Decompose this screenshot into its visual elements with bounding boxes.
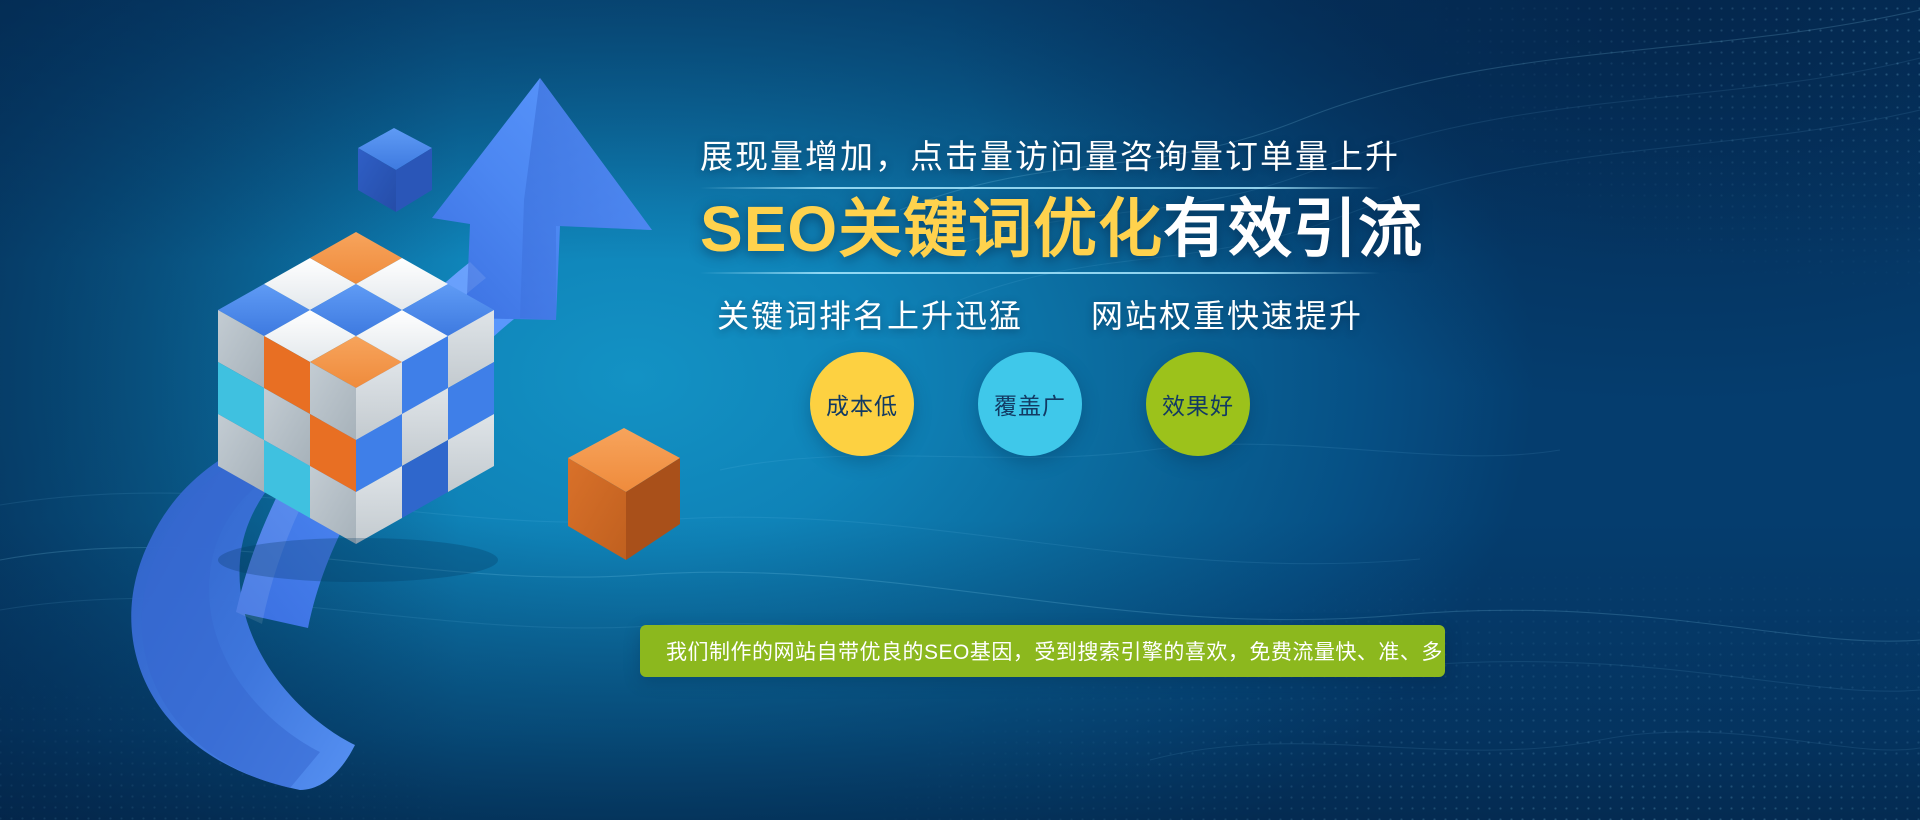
floating-orange-cube [568,428,680,560]
headline-rest: 有效引流 [1163,193,1423,265]
headline-highlight: SEO关键词优化 [700,193,1163,265]
divider-top [700,187,1380,189]
kicker-text: 展现量增加，点击量访问量咨询量订单量上升 [700,140,1380,173]
badge-cost[interactable]: 成本低 [810,352,914,456]
tagline-bar: 我们制作的网站自带优良的SEO基因，受到搜索引擎的喜欢，免费流量快、准、多 [640,625,1445,677]
subtitle-text: 关键词排名上升迅猛 网站权重快速提升 [700,300,1380,332]
divider-bottom [700,272,1380,274]
page-title: SEO关键词优化有效引流 [700,195,1380,264]
tagline-text: 我们制作的网站自带优良的SEO基因，受到搜索引擎的喜欢，免费流量快、准、多 [640,636,1443,666]
badge-coverage-label: 覆盖广 [994,387,1066,421]
floating-blue-cube [358,128,432,212]
headline-block: 展现量增加，点击量访问量咨询量订单量上升 SEO关键词优化有效引流 关键词排名上… [700,140,1880,332]
seo-promo-banner: 展现量增加，点击量访问量咨询量订单量上升 SEO关键词优化有效引流 关键词排名上… [0,0,1920,820]
badge-effect[interactable]: 效果好 [1146,352,1250,456]
badge-coverage[interactable]: 覆盖广 [978,352,1082,456]
seo-growth-illustration [0,0,760,820]
feature-badge-group: 成本低 覆盖广 效果好 [810,352,1370,460]
badge-cost-label: 成本低 [826,387,898,421]
badge-effect-label: 效果好 [1162,387,1234,421]
